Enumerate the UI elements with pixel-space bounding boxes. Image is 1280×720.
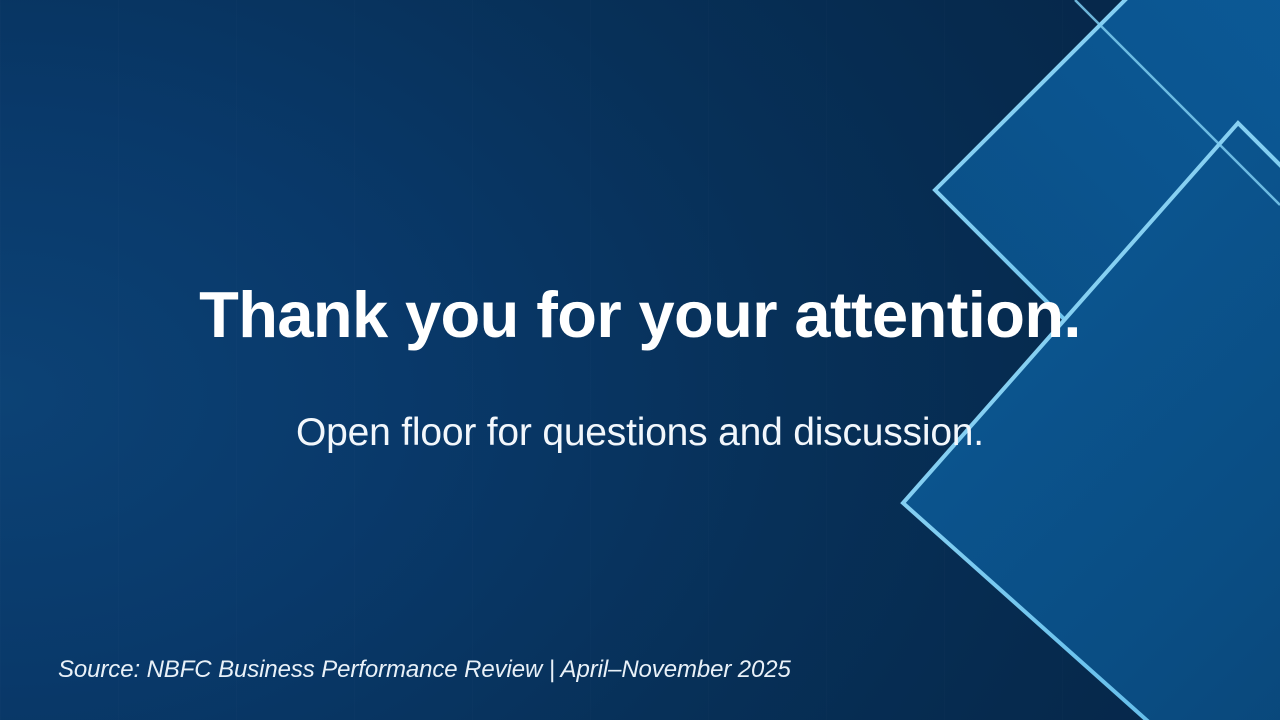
slide-content: Thank you for your attention. Open floor… (0, 0, 1280, 720)
page-subtitle: Open floor for questions and discussion. (0, 409, 1280, 457)
footer-source-note: Source: NBFC Business Performance Review… (58, 655, 791, 685)
thank-you-slide: Thank you for your attention. Open floor… (0, 0, 1280, 720)
page-title: Thank you for your attention. (0, 277, 1280, 353)
